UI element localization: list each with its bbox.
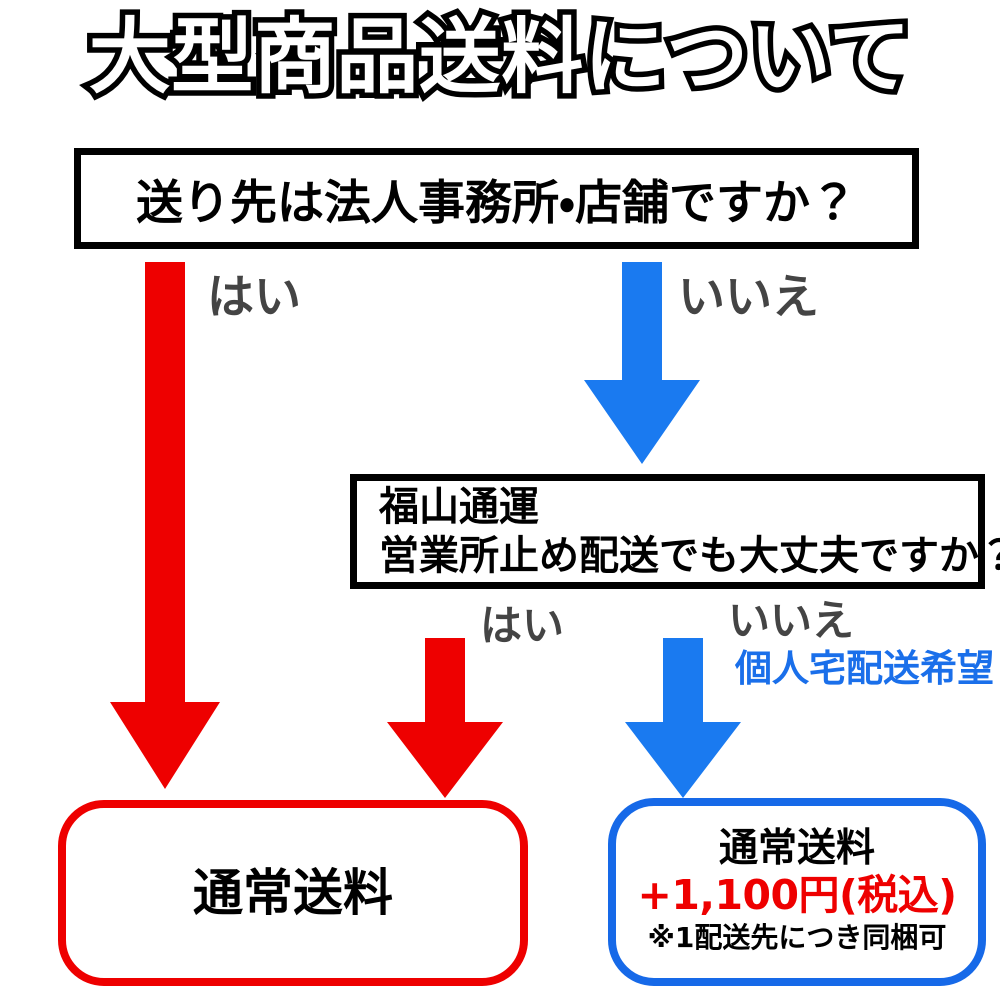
branch-label-no-2: いいえ <box>728 600 854 642</box>
result-surcharge-note: ※1配送先につき同梱可 <box>648 920 947 955</box>
question-box-shipping-destination: 送り先は法人事務所・店舗ですか？ <box>74 148 919 249</box>
flowchart-page: 大型商品送料について 送り先は法人事務所・店舗ですか？ はい いいえ 福山通運 … <box>0 0 1000 1000</box>
branch-label-yes-1: はい <box>207 274 301 321</box>
question-2-line-1: 福山通運 <box>379 484 539 530</box>
question-2-text: 福山通運 営業所止め配送でも大丈夫ですか？ <box>379 483 1000 581</box>
branch-label-no-1: いいえ <box>678 274 819 321</box>
branch-sublabel-home-delivery: 個人宅配送希望 <box>735 650 994 687</box>
result-box-surcharge-shipping: 通常送料 +1,100円(税込) ※1配送先につき同梱可 <box>608 798 986 986</box>
question-box-fukuyama-depot: 福山通運 営業所止め配送でも大丈夫ですか？ <box>350 474 985 589</box>
result-box-normal-shipping: 通常送料 <box>58 800 528 986</box>
result-normal-label: 通常送料 <box>193 868 393 918</box>
page-title: 大型商品送料について <box>0 14 1000 103</box>
down-arrow-red-yes-2 <box>398 638 558 800</box>
branch-label-yes-2: はい <box>480 605 564 647</box>
result-surcharge-label: 通常送料 <box>719 827 875 871</box>
question-1-text: 送り先は法人事務所・店舗ですか？ <box>136 164 857 233</box>
down-arrow-red-yes-1 <box>110 262 270 802</box>
result-surcharge-price: +1,100円(税込) <box>637 871 956 919</box>
question-2-line-2: 営業所止め配送でも大丈夫ですか？ <box>379 533 1000 579</box>
